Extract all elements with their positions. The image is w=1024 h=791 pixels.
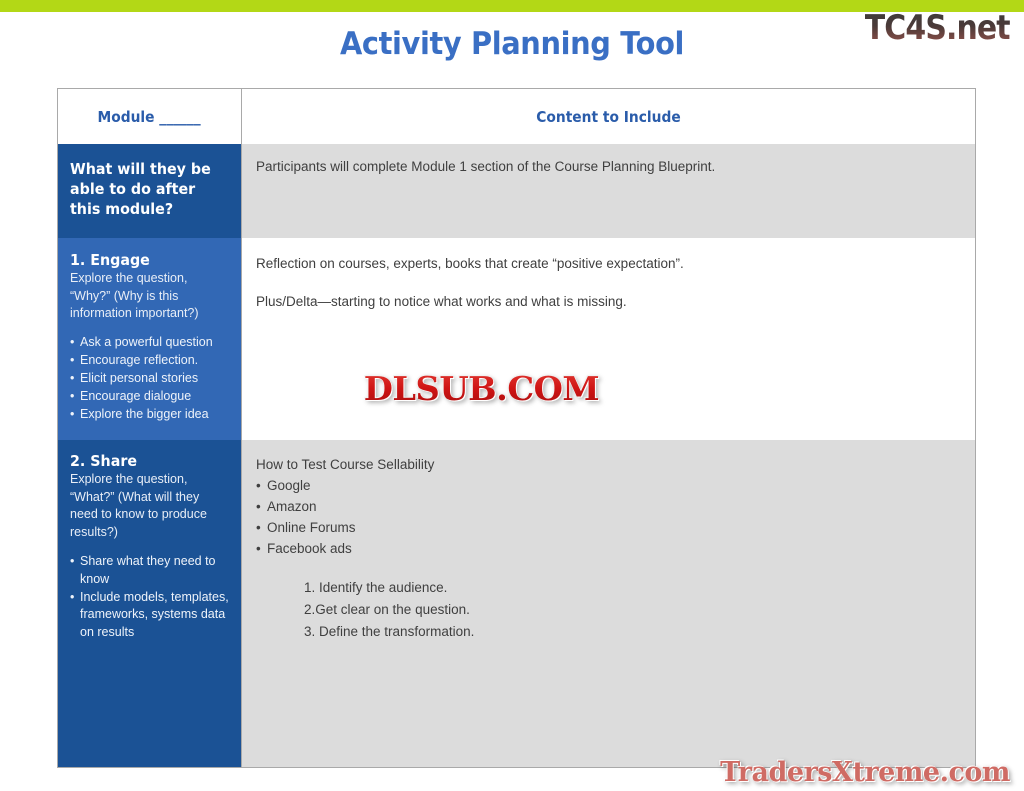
list-item: Explore the bigger idea xyxy=(70,406,229,424)
list-item: Google xyxy=(256,475,975,496)
share-content-heading: How to Test Course Sellability xyxy=(256,455,975,475)
list-item: Share what they need to know xyxy=(70,553,229,589)
outcome-question: What will they be able to do after this … xyxy=(70,160,219,220)
activity-planning-table: Module ______ Content to Include What wi… xyxy=(57,88,976,768)
engage-title: 1. Engage xyxy=(70,251,221,269)
table-row: 1. Engage Explore the question, “Why?” (… xyxy=(58,238,975,440)
column-header-module: Module ______ xyxy=(98,108,201,126)
share-bullet-list: Share what they need to know Include mod… xyxy=(70,553,229,642)
list-item: 1. Identify the audience. xyxy=(304,577,975,599)
engage-paragraph-2: Plus/Delta—starting to notice what works… xyxy=(256,292,975,312)
row-engage-content-cell: Reflection on courses, experts, books th… xyxy=(242,238,975,440)
row-outcome-content-cell: Participants will complete Module 1 sect… xyxy=(242,144,975,238)
outcome-paragraph: Participants will complete Module 1 sect… xyxy=(256,157,975,177)
list-item: Online Forums xyxy=(256,517,975,538)
engage-bullet-list: Ask a powerful question Encourage reflec… xyxy=(70,334,229,423)
header-cell-module: Module ______ xyxy=(58,89,242,144)
list-item: 3. Define the transformation. xyxy=(304,621,975,643)
page-title: Activity Planning Tool xyxy=(36,26,988,62)
list-item: Elicit personal stories xyxy=(70,370,229,388)
table-row: What will they be able to do after this … xyxy=(58,144,975,238)
list-item: Include models, templates, frameworks, s… xyxy=(70,589,229,643)
list-item: Encourage dialogue xyxy=(70,388,229,406)
list-item: 2.Get clear on the question. xyxy=(304,599,975,621)
engage-paragraph-1: Reflection on courses, experts, books th… xyxy=(256,254,975,274)
share-title: 2. Share xyxy=(70,452,221,470)
table-header-row: Module ______ Content to Include xyxy=(58,89,975,144)
list-item: Encourage reflection. xyxy=(70,352,229,370)
watermark-dlsub: DLSUB.COM xyxy=(364,369,599,408)
engage-subtitle: Explore the question, “Why?” (Why is thi… xyxy=(70,270,229,323)
list-item: Ask a powerful question xyxy=(70,334,229,352)
row-engage-label-cell: 1. Engage Explore the question, “Why?” (… xyxy=(58,238,242,440)
column-header-content: Content to Include xyxy=(536,108,680,126)
list-item: Amazon xyxy=(256,496,975,517)
row-share-label-cell: 2. Share Explore the question, “What?” (… xyxy=(58,440,242,767)
share-content-numbered-list: 1. Identify the audience. 2.Get clear on… xyxy=(256,577,975,643)
header-cell-content: Content to Include xyxy=(242,89,975,144)
row-outcome-label-cell: What will they be able to do after this … xyxy=(58,144,242,238)
share-content-bullet-list: Google Amazon Online Forums Facebook ads xyxy=(256,475,975,559)
list-item: Facebook ads xyxy=(256,538,975,559)
watermark-tradersxtreme: TradersXtreme.com xyxy=(720,757,1010,788)
row-share-content-cell: How to Test Course Sellability Google Am… xyxy=(242,440,975,767)
table-row: 2. Share Explore the question, “What?” (… xyxy=(58,440,975,767)
share-subtitle: Explore the question, “What?” (What will… xyxy=(70,471,229,542)
